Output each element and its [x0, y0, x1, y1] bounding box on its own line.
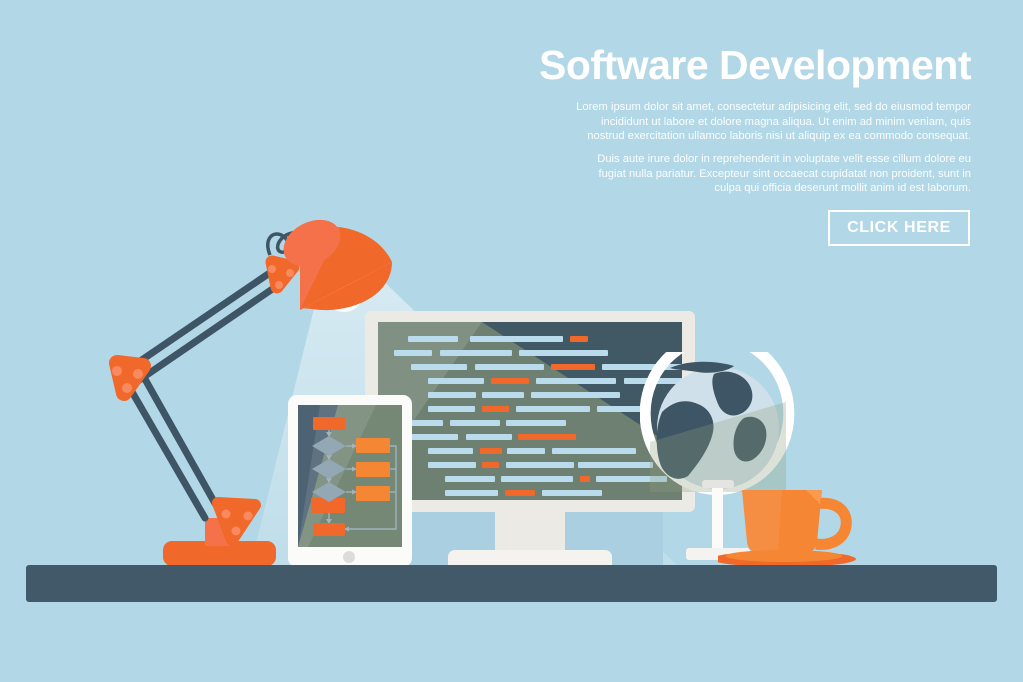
code-line-2-segment-0: [411, 364, 467, 370]
lamp-shade-highlight: [300, 226, 340, 310]
code-line-0-segment-1: [470, 336, 563, 342]
saucer-inner: [726, 550, 842, 562]
process-box-1: [356, 438, 390, 453]
code-line-9-segment-0: [428, 462, 476, 468]
code-line-7-segment-1: [466, 434, 512, 440]
code-line-4-segment-1: [482, 392, 524, 398]
page-title: Software Development: [539, 44, 971, 87]
code-line-7-segment-2: [518, 434, 576, 440]
code-line-11-segment-1: [505, 490, 535, 496]
code-line-8-segment-0: [428, 448, 473, 454]
click-here-button[interactable]: CLICK HERE: [828, 210, 970, 246]
process-box-3: [356, 486, 390, 501]
flowchart-shapes: [298, 405, 402, 547]
tablet-screen: [298, 405, 402, 547]
code-line-10-segment-0: [445, 476, 495, 482]
code-line-3-segment-1: [491, 378, 529, 384]
end-box: [313, 523, 345, 536]
code-line-1-segment-2: [519, 350, 608, 356]
monitor-screen: [378, 322, 682, 500]
hero-paragraph-1: Lorem ipsum dolor sit amet, consectetur …: [571, 100, 971, 144]
lamp-wire: [268, 232, 315, 255]
code-line-5-segment-0: [428, 406, 475, 412]
cup-highlight: [742, 490, 782, 554]
lamp-base-post: [205, 518, 230, 546]
code-line-1-segment-1: [440, 350, 512, 356]
code-line-6-segment-2: [506, 420, 566, 426]
code-line-9-segment-2: [506, 462, 574, 468]
code-line-0-segment-2: [570, 336, 588, 342]
process-box-2: [356, 462, 390, 477]
code-line-6-segment-1: [450, 420, 500, 426]
code-line-11-segment-2: [542, 490, 602, 496]
code-line-0-segment-0: [408, 336, 458, 342]
code-line-3-segment-0: [428, 378, 484, 384]
coffee-cup[interactable]: [718, 480, 858, 570]
code-line-11-segment-0: [445, 490, 498, 496]
code-line-8-segment-1: [480, 448, 502, 454]
monitor-base: [448, 550, 612, 566]
code-line-4-segment-0: [428, 392, 476, 398]
code-line-2-segment-1: [475, 364, 544, 370]
code-line-10-segment-2: [580, 476, 590, 482]
lamp-shade-icon: [300, 227, 392, 310]
illustration-canvas: Software Development Lorem ipsum dolor s…: [0, 0, 1023, 682]
desk-surface: [26, 565, 997, 602]
code-line-2-segment-2: [551, 364, 595, 370]
home-button-icon[interactable]: [343, 551, 355, 563]
decision-1: [312, 436, 346, 456]
hero-paragraph-2: Duis aute irure dolor in reprehenderit i…: [571, 152, 971, 196]
code-line-8-segment-3: [552, 448, 636, 454]
start-box: [313, 417, 345, 430]
lamp-joint-icon-head: [272, 262, 293, 287]
lamp-upper-arm: [124, 268, 287, 385]
code-line-5-segment-1: [482, 406, 509, 412]
lamp-joint-icon-middle: [117, 363, 143, 393]
code-line-9-segment-1: [482, 462, 499, 468]
lamp-shade-top: [276, 211, 349, 276]
code-line-10-segment-1: [501, 476, 573, 482]
lamp-joint-icon-lower: [218, 503, 255, 540]
code-line-1-segment-0: [394, 350, 432, 356]
code-line-5-segment-2: [516, 406, 590, 412]
code-line-8-segment-2: [507, 448, 545, 454]
decision-2: [312, 459, 346, 479]
code-line-3-segment-2: [536, 378, 616, 384]
lamp-lower-arm: [124, 372, 221, 518]
code-line-4-segment-2: [531, 392, 620, 398]
code-editor-lines: [378, 322, 682, 500]
lamp-base: [163, 541, 276, 566]
lamp-bulb-icon: [324, 272, 364, 312]
